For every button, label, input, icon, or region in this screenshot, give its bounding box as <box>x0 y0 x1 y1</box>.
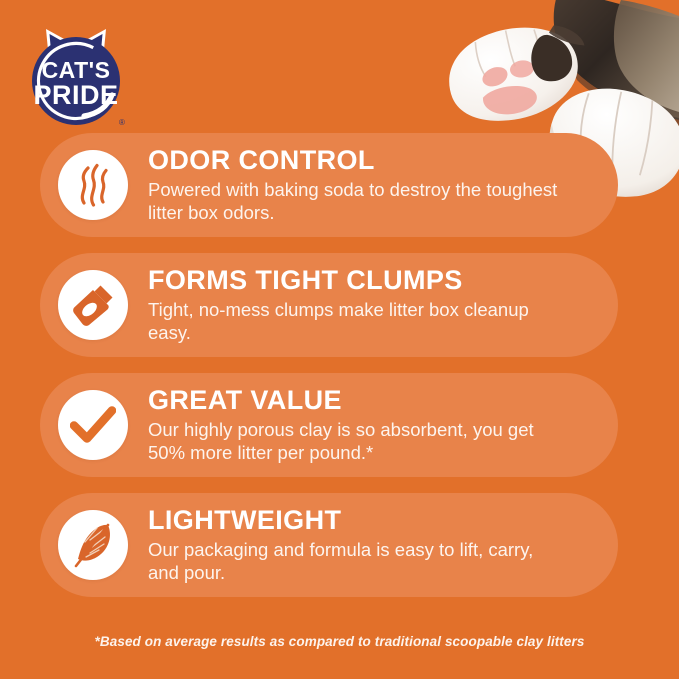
logo-line-2: PRIDE <box>33 80 118 110</box>
feather-icon <box>58 510 128 580</box>
cats-pride-logo: CAT'S PRIDE ® <box>22 20 130 132</box>
checkmark-icon <box>58 390 128 460</box>
litter-scoop-icon <box>58 270 128 340</box>
footnote-disclaimer: *Based on average results as compared to… <box>0 634 679 649</box>
odor-waves-icon <box>58 150 128 220</box>
feature-card-list: ODOR CONTROL Powered with baking soda to… <box>40 133 620 613</box>
promo-banner: CAT'S PRIDE ® <box>0 0 679 679</box>
feature-description: Powered with baking soda to destroy the … <box>148 178 568 224</box>
feature-card-lightweight[interactable]: LIGHTWEIGHT Our packaging and formula is… <box>40 493 618 597</box>
feature-card-great-value[interactable]: GREAT VALUE Our highly porous clay is so… <box>40 373 618 477</box>
feature-text-block: FORMS TIGHT CLUMPS Tight, no-mess clumps… <box>148 266 586 344</box>
feature-title: FORMS TIGHT CLUMPS <box>148 266 568 295</box>
feature-card-forms-tight-clumps[interactable]: FORMS TIGHT CLUMPS Tight, no-mess clumps… <box>40 253 618 357</box>
feature-title: LIGHTWEIGHT <box>148 506 568 535</box>
feature-description: Our highly porous clay is so absorbent, … <box>148 418 568 464</box>
feature-description: Tight, no-mess clumps make litter box cl… <box>148 298 568 344</box>
feature-description: Our packaging and formula is easy to lif… <box>148 538 568 584</box>
feature-text-block: LIGHTWEIGHT Our packaging and formula is… <box>148 506 586 584</box>
feature-card-odor-control[interactable]: ODOR CONTROL Powered with baking soda to… <box>40 133 618 237</box>
feature-text-block: GREAT VALUE Our highly porous clay is so… <box>148 386 586 464</box>
feature-title: GREAT VALUE <box>148 386 568 415</box>
registered-mark: ® <box>119 118 125 127</box>
feature-text-block: ODOR CONTROL Powered with baking soda to… <box>148 146 586 224</box>
feature-title: ODOR CONTROL <box>148 146 568 175</box>
